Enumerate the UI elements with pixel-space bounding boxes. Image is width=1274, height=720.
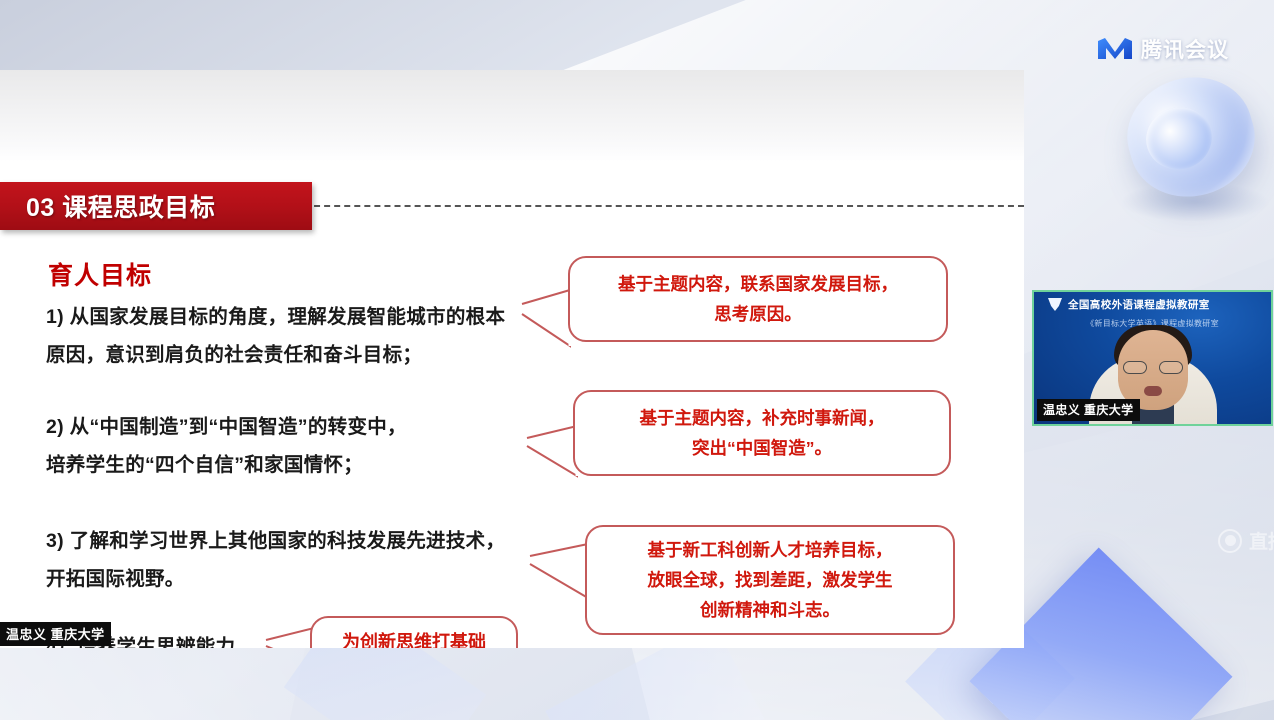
live-streaming-badge: 直播 bbox=[1218, 527, 1274, 554]
slide-top-gradient bbox=[0, 70, 1024, 162]
section-title-banner: 03 课程思政目标 bbox=[0, 182, 312, 230]
callout-bubble-2: 基于主题内容，补充时事新闻， 突出“中国智造”。 bbox=[573, 390, 951, 476]
glass-torus-shadow bbox=[1120, 182, 1270, 222]
glass-torus-decoration bbox=[1114, 63, 1268, 211]
video-tile-name-label: 温忠义 重庆大学 bbox=[1037, 399, 1140, 421]
virtual-background-banner: 全国高校外语课程虚拟教研室 bbox=[1034, 297, 1271, 312]
slide-presenter-name-chip: 温忠义 重庆大学 bbox=[0, 622, 111, 646]
live-label: 直播 bbox=[1249, 527, 1274, 554]
section-title-text: 03 课程思政目标 bbox=[26, 188, 215, 224]
goal-item-3: 3) 了解和学习世界上其他国家的科技发展先进技术， 开拓国际视野。 bbox=[46, 522, 505, 598]
presenter-video-tile[interactable]: 全国高校外语课程虚拟教研室 《新目标大学英语》课程虚拟教研室 温忠义 重庆大学 bbox=[1032, 290, 1273, 426]
slide-subtitle: 育人目标 bbox=[48, 256, 152, 292]
shared-slide-surface[interactable]: 03 课程思政目标 育人目标 1) 从国家发展目标的角度，理解发展智能城市的根本… bbox=[0, 70, 1024, 648]
tencent-meeting-brand: 腾讯会议 bbox=[1098, 34, 1229, 64]
callout-bubble-3: 基于新工科创新人才培养目标， 放眼全球，找到差距，激发学生 创新精神和斗志。 bbox=[585, 525, 955, 635]
goal-item-2: 2) 从“中国制造”到“中国智造”的转变中， 培养学生的“四个自信”和家国情怀； bbox=[46, 408, 407, 484]
presenter-glasses bbox=[1123, 360, 1183, 374]
institution-logo-icon bbox=[1048, 298, 1062, 311]
section-dashed-line bbox=[304, 205, 1024, 207]
record-dot-icon bbox=[1218, 529, 1242, 553]
meeting-screen-share-view: 腾讯会议 直播 03 课程思政目标 育人目标 1) 从国家发展目标的角度，理解发… bbox=[0, 0, 1274, 720]
goal-item-1: 1) 从国家发展目标的角度，理解发展智能城市的根本 原因，意识到肩负的社会责任和… bbox=[46, 298, 505, 374]
virtual-background-title: 全国高校外语课程虚拟教研室 bbox=[1068, 297, 1210, 312]
presenter-mouth bbox=[1144, 386, 1162, 396]
callout-bubble-1: 基于主题内容，联系国家发展目标， 思考原因。 bbox=[568, 256, 948, 342]
brand-name-label: 腾讯会议 bbox=[1141, 34, 1229, 64]
callout-bubble-4: 为创新思维打基础 bbox=[310, 616, 518, 648]
tencent-meeting-logo-icon bbox=[1098, 38, 1132, 60]
